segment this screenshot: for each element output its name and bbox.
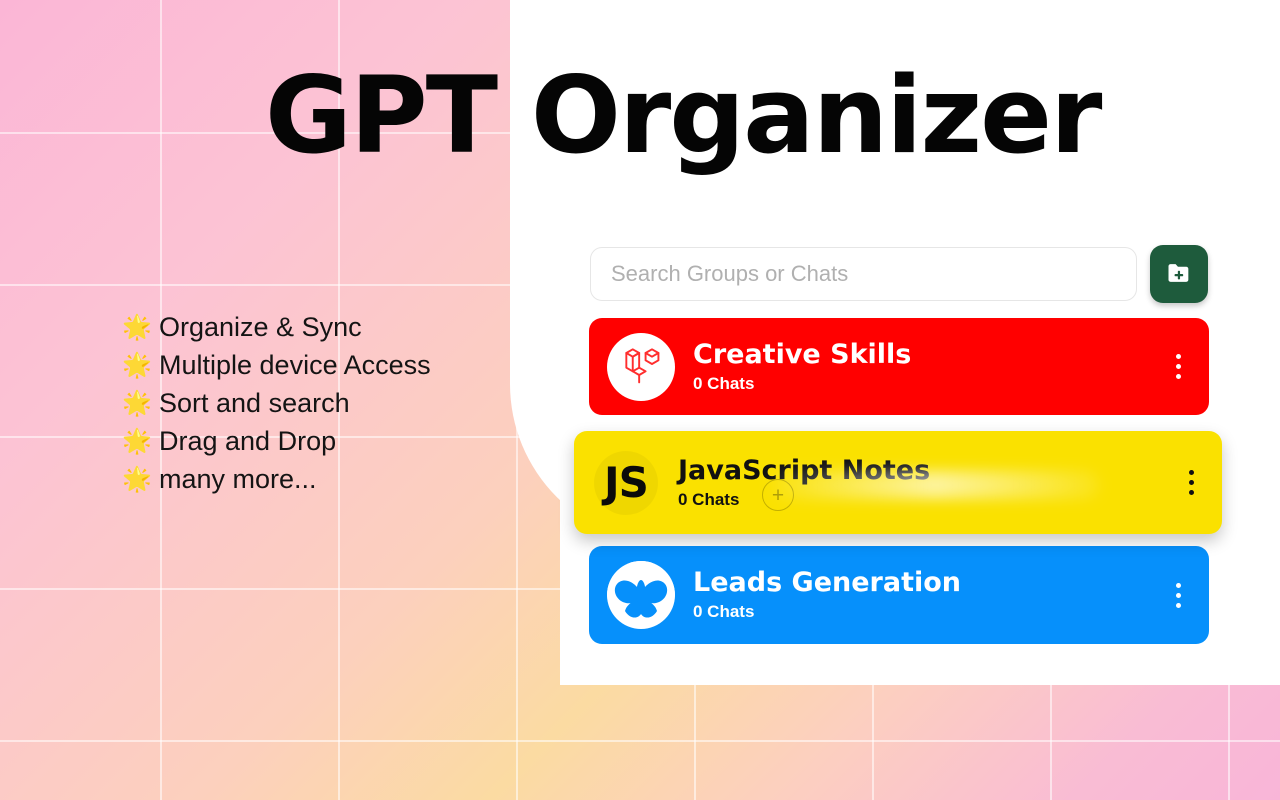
group-chat-count: 0 Chats bbox=[693, 374, 1165, 394]
avatar bbox=[607, 561, 675, 629]
extension-popup: Creative Skills 0 Chats JS JavaScript No… bbox=[570, 228, 1226, 668]
group-card-javascript-notes[interactable]: JS JavaScript Notes 0 Chats + bbox=[574, 431, 1222, 534]
feature-item: 🌟 Organize & Sync bbox=[122, 310, 431, 346]
glowing-star-icon: 🌟 bbox=[122, 316, 148, 340]
feature-item: 🌟 Drag and Drop bbox=[122, 424, 431, 460]
glowing-star-icon: 🌟 bbox=[122, 430, 148, 454]
folder-plus-icon bbox=[1165, 259, 1193, 290]
feature-label: many more... bbox=[159, 462, 317, 498]
feature-label: Sort and search bbox=[159, 386, 350, 422]
feature-label: Drag and Drop bbox=[159, 424, 336, 460]
glowing-star-icon: 🌟 bbox=[122, 468, 148, 492]
feature-label: Organize & Sync bbox=[159, 310, 362, 346]
butterfly-icon bbox=[607, 561, 675, 629]
feature-item: 🌟 many more... bbox=[122, 462, 431, 498]
group-info: Creative Skills 0 Chats bbox=[693, 339, 1165, 394]
page-title: GPT Organizer bbox=[265, 60, 1100, 171]
avatar bbox=[607, 333, 675, 401]
glowing-star-icon: 🌟 bbox=[122, 392, 148, 416]
avatar: JS bbox=[592, 449, 660, 517]
kebab-menu-icon[interactable] bbox=[1165, 578, 1191, 612]
group-name: Leads Generation bbox=[693, 567, 1165, 599]
add-folder-button[interactable] bbox=[1150, 245, 1208, 303]
kebab-menu-icon[interactable] bbox=[1178, 466, 1204, 500]
promo-banner: GPT Organizer 🌟 Organize & Sync 🌟 Multip… bbox=[0, 0, 1280, 800]
group-card-creative-skills[interactable]: Creative Skills 0 Chats bbox=[589, 318, 1209, 415]
group-card-leads-generation[interactable]: Leads Generation 0 Chats bbox=[589, 546, 1209, 644]
search-row bbox=[590, 245, 1208, 303]
group-chat-count: 0 Chats bbox=[678, 490, 1178, 510]
group-chat-count: 0 Chats bbox=[693, 602, 1165, 622]
feature-label: Multiple device Access bbox=[159, 348, 431, 384]
feature-list: 🌟 Organize & Sync 🌟 Multiple device Acce… bbox=[122, 310, 431, 498]
group-info: Leads Generation 0 Chats bbox=[693, 567, 1165, 622]
kebab-menu-icon[interactable] bbox=[1165, 350, 1191, 384]
group-name: JavaScript Notes bbox=[678, 455, 1178, 487]
group-name: Creative Skills bbox=[693, 339, 1165, 371]
feature-item: 🌟 Sort and search bbox=[122, 386, 431, 422]
laravel-logo-icon bbox=[619, 342, 663, 391]
feature-item: 🌟 Multiple device Access bbox=[122, 348, 431, 384]
avatar-halo bbox=[594, 451, 658, 515]
glowing-star-icon: 🌟 bbox=[122, 354, 148, 378]
group-info: JavaScript Notes 0 Chats bbox=[678, 455, 1178, 510]
search-input[interactable] bbox=[590, 247, 1137, 301]
